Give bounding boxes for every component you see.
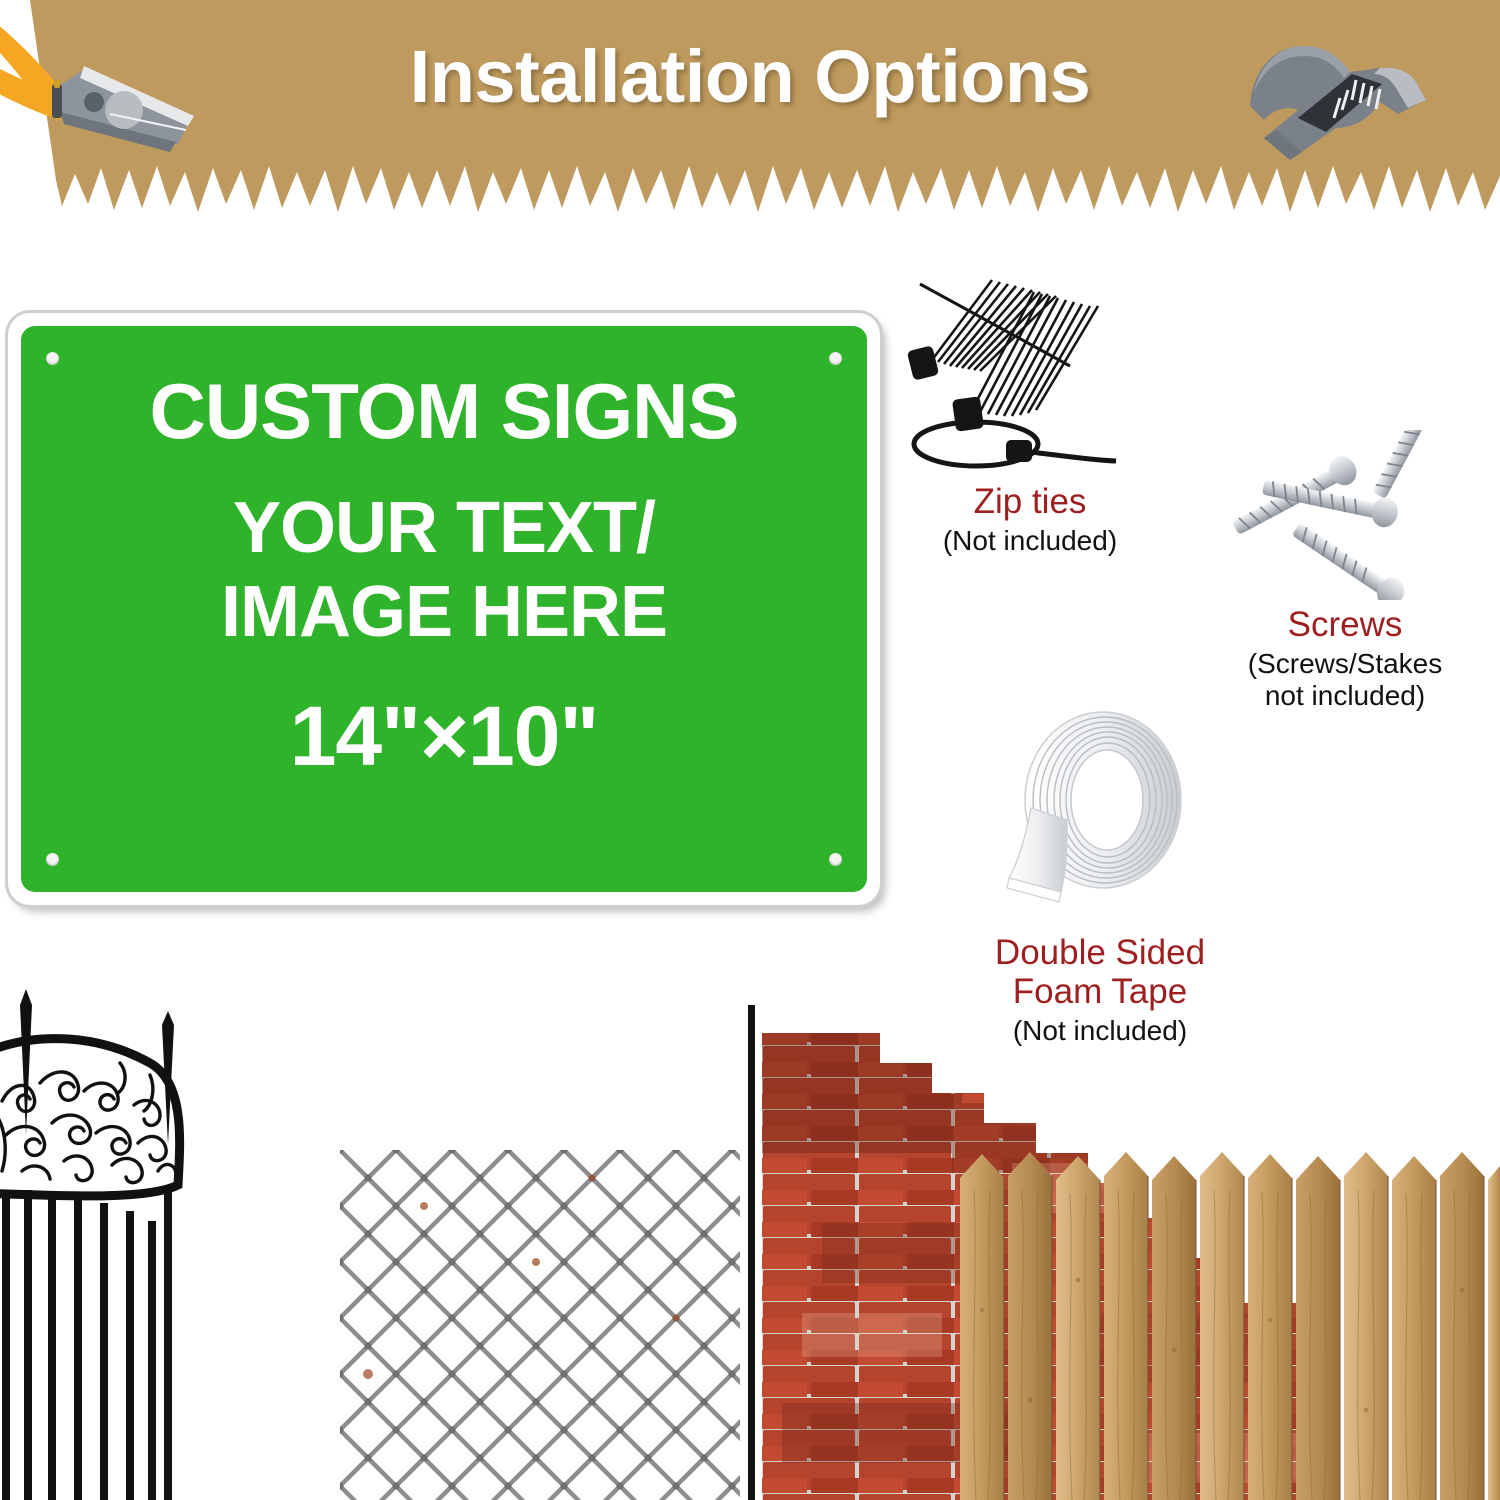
mounting-hole-icon bbox=[46, 352, 59, 365]
accessory-title: Screws bbox=[1195, 605, 1495, 644]
custom-sign-preview: CUSTOM SIGNS YOUR TEXT/ IMAGE HERE 14"×1… bbox=[8, 313, 880, 905]
sign-face: CUSTOM SIGNS YOUR TEXT/ IMAGE HERE 14"×1… bbox=[21, 326, 867, 892]
mounting-hole-icon bbox=[829, 853, 842, 866]
accessory-zipties: Zip ties (Not included) bbox=[860, 262, 1200, 557]
sign-subline-1: YOUR TEXT/ bbox=[21, 492, 867, 564]
sign-subline-2: IMAGE HERE bbox=[21, 576, 867, 648]
foam-tape-roll-icon bbox=[975, 688, 1225, 928]
page-title: Installation Options bbox=[0, 34, 1500, 119]
section-divider bbox=[748, 1005, 755, 1500]
chain-link-fence-icon bbox=[340, 1150, 740, 1500]
accessory-note: (Not included) bbox=[860, 525, 1200, 557]
zip-tie-icon bbox=[880, 262, 1180, 477]
sign-text-block: CUSTOM SIGNS YOUR TEXT/ IMAGE HERE 14"×1… bbox=[21, 372, 867, 778]
accessory-screws: Screws (Screws/Stakes not included) bbox=[1195, 430, 1495, 712]
mounting-hole-icon bbox=[829, 352, 842, 365]
installation-surfaces bbox=[0, 985, 1500, 1500]
accessory-title: Zip ties bbox=[860, 482, 1200, 521]
mounting-hole-icon bbox=[46, 853, 59, 866]
wrought-iron-gate-icon bbox=[0, 985, 350, 1500]
sign-dimensions: 14"×10" bbox=[21, 694, 867, 778]
wood-picket-fence-icon bbox=[960, 1150, 1500, 1500]
header-banner: Installation Options bbox=[0, 0, 1500, 235]
screws-icon bbox=[1215, 430, 1475, 600]
sign-headline: CUSTOM SIGNS bbox=[21, 372, 867, 450]
